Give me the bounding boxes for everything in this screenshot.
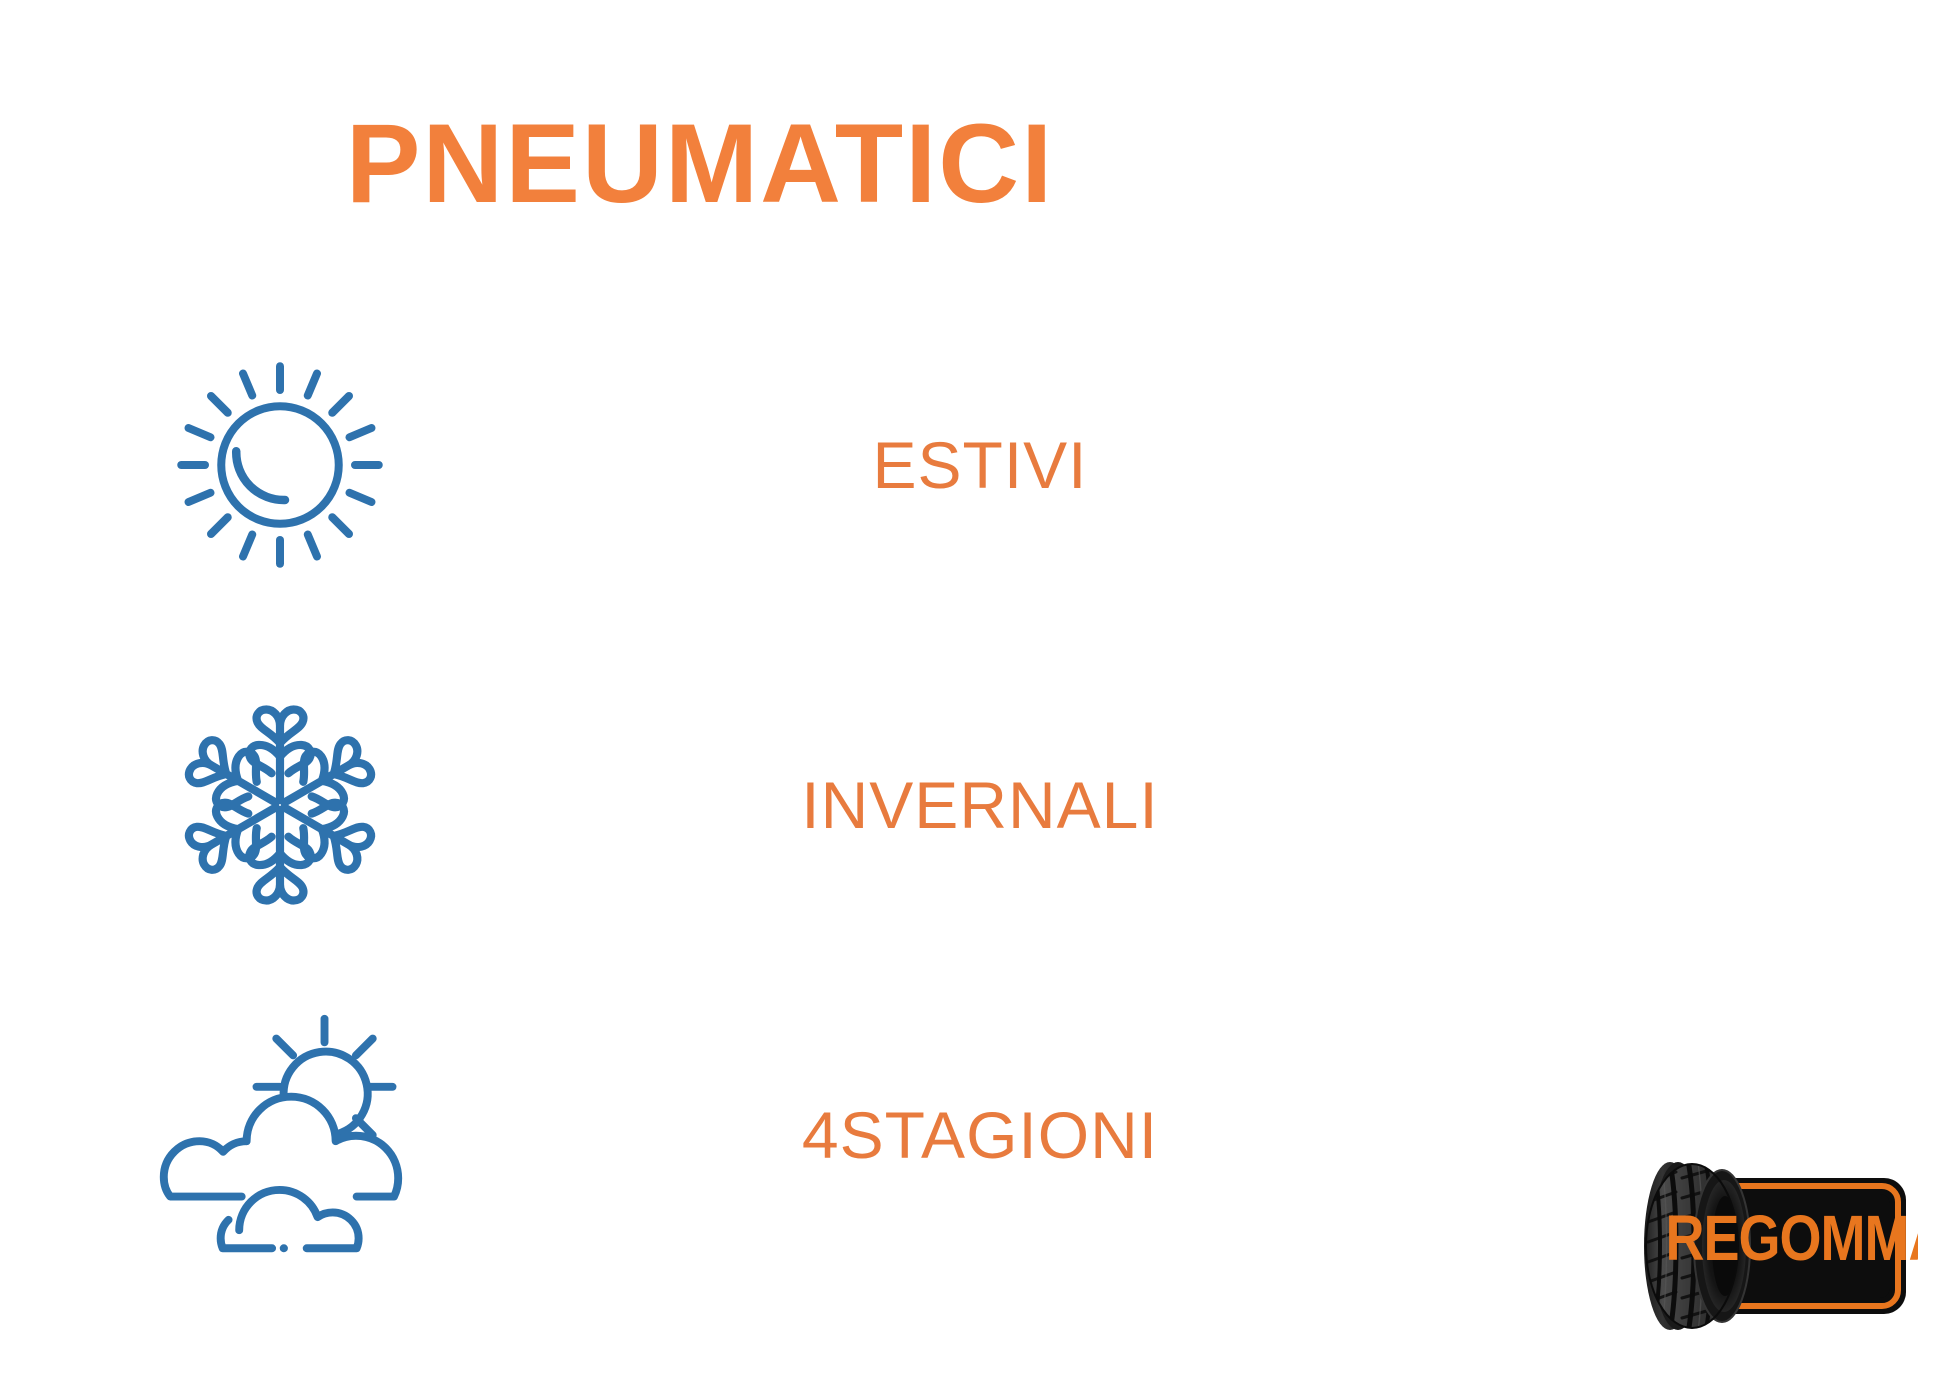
estivi-label-cell: ESTIVI — [560, 427, 1400, 503]
season-label-4stagioni: 4STAGIONI — [802, 1097, 1158, 1173]
season-label-invernali: INVERNALI — [801, 767, 1158, 843]
season-row-estivi: ESTIVI — [0, 340, 1400, 590]
regomma-logo[interactable]: REGOMMA — [1618, 1148, 1918, 1344]
snowflake-icon — [156, 681, 404, 929]
page-title: PNEUMATICI — [0, 108, 1400, 220]
logo-wordmark: REGOMMA — [1666, 1203, 1918, 1274]
invernali-label-cell: INVERNALI — [560, 767, 1400, 843]
snowflake-icon-cell — [0, 681, 560, 929]
season-row-4stagioni: 4STAGIONI — [0, 1010, 1400, 1260]
sun-icon-cell — [0, 340, 560, 590]
stagioni-label-cell: 4STAGIONI — [560, 1097, 1400, 1173]
sun-icon — [155, 340, 405, 590]
sun-behind-clouds-icon — [144, 1011, 416, 1259]
season-row-invernali: INVERNALI — [0, 680, 1400, 930]
season-label-estivi: ESTIVI — [872, 427, 1087, 503]
sun-behind-clouds-icon-cell — [0, 1011, 560, 1259]
